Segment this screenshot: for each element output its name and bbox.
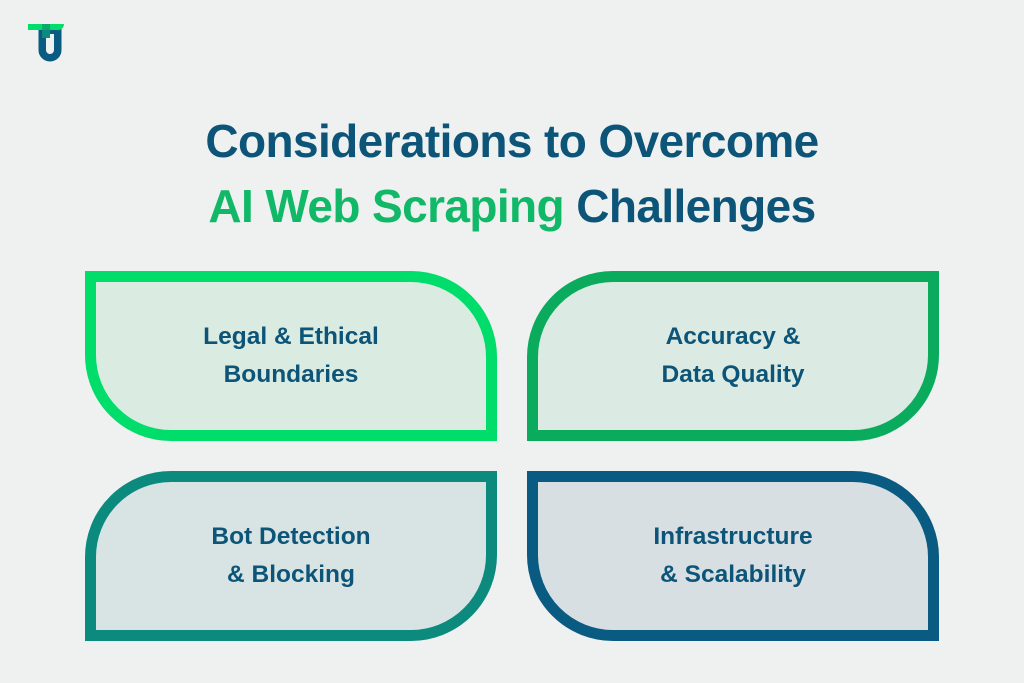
challenge-card-grid: Legal & Ethical Boundaries Accuracy & Da… [85,271,939,641]
page-title-line-1: Considerations to Overcome [0,109,1024,174]
card-label: Bot Detection & Blocking [211,518,370,594]
card-label: Infrastructure & Scalability [653,518,812,594]
page-title-line-2: AI Web Scraping Challenges [0,174,1024,239]
card-label: Accuracy & Data Quality [662,318,805,394]
card-label: Legal & Ethical Boundaries [203,318,379,394]
card-bot-detection-blocking[interactable]: Bot Detection & Blocking [85,471,497,641]
page-title-highlight: AI Web Scraping [208,180,564,232]
brand-logo [22,16,78,66]
card-legal-ethical-boundaries[interactable]: Legal & Ethical Boundaries [85,271,497,441]
page-title: Considerations to Overcome AI Web Scrapi… [0,109,1024,240]
logo-overlap-top [42,24,50,30]
page-title-suffix: Challenges [564,180,816,232]
card-accuracy-data-quality[interactable]: Accuracy & Data Quality [527,271,939,441]
card-infrastructure-scalability[interactable]: Infrastructure & Scalability [527,471,939,641]
